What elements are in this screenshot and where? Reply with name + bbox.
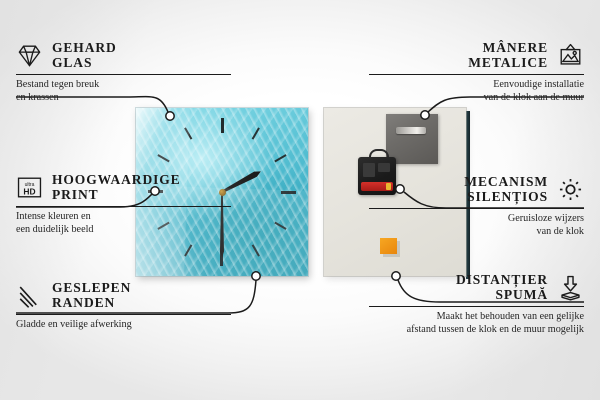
feature-callout-gehard-glas: GEHARD GLAS Bestand tegen breuk en krass…	[16, 40, 231, 104]
spacer-arrow-icon	[557, 274, 584, 301]
svg-text:HD: HD	[23, 186, 35, 196]
divider	[369, 74, 584, 75]
feature-title: DISTANȚIER SPUMĂ	[456, 272, 548, 302]
divider	[369, 306, 584, 307]
feature-callout-manere-metalice: MÂNERE METALICE Eenvoudige installatie v…	[369, 40, 584, 104]
feature-header: GEHARD GLAS	[16, 40, 231, 70]
feature-callout-hoogwaardige-print: ultra HD HOOGWAARDIGE PRINT Intense kleu…	[16, 172, 231, 236]
feature-header: MÂNERE METALICE	[369, 40, 584, 70]
feature-desc-line2: en krassen	[16, 92, 231, 104]
divider	[16, 74, 231, 75]
feature-desc-line2: afstand tussen de klok en de muur mogeli…	[369, 324, 584, 336]
feature-callout-distantier-spuma: DISTANȚIER SPUMĂ Maakt het behouden van …	[369, 272, 584, 336]
foam-spacer	[380, 238, 397, 254]
feature-callout-mecanism-silentios: MECANISM SILENȚIOS Geruisloze wijzers va…	[369, 174, 584, 238]
gear-icon	[557, 176, 584, 203]
infographic-canvas: GEHARD GLAS Bestand tegen breuk en krass…	[0, 0, 600, 400]
feature-title: MECANISM SILENȚIOS	[464, 174, 548, 204]
wall-frame-icon	[557, 42, 584, 69]
feature-desc-line1: Intense kleuren en	[16, 211, 231, 223]
feature-header: MECANISM SILENȚIOS	[369, 174, 584, 204]
diamond-icon	[16, 42, 43, 69]
feature-desc-line1: Gladde en veilige afwerking	[16, 319, 231, 331]
divider	[16, 206, 231, 207]
beveled-edges-icon	[16, 282, 43, 309]
feature-desc-line2: van de klok	[369, 226, 584, 238]
feature-header: ultra HD HOOGWAARDIGE PRINT	[16, 172, 231, 202]
feature-title: GESLEPEN RANDEN	[52, 280, 131, 310]
feature-desc-line2: van de klok aan de muur	[369, 92, 584, 104]
feature-callout-geslepen-randen: GESLEPEN RANDEN Gladde en veilige afwerk…	[16, 280, 231, 332]
feature-title: HOOGWAARDIGE PRINT	[52, 172, 181, 202]
feature-desc-line1: Bestand tegen breuk	[16, 79, 231, 91]
divider	[369, 208, 584, 209]
ultra-hd-icon: ultra HD	[16, 174, 43, 201]
feature-header: GESLEPEN RANDEN	[16, 280, 231, 310]
feature-header: DISTANȚIER SPUMĂ	[369, 272, 584, 302]
divider	[16, 314, 231, 315]
feature-desc-line2: een duidelijk beeld	[16, 224, 231, 236]
feature-title: MÂNERE METALICE	[468, 40, 548, 70]
feature-desc-line1: Geruisloze wijzers	[369, 213, 584, 225]
feature-title: GEHARD GLAS	[52, 40, 117, 70]
feature-desc-line1: Eenvoudige installatie	[369, 79, 584, 91]
feature-desc-line1: Maakt het behouden van een gelijke	[369, 311, 584, 323]
mechanism-slot-secondary	[378, 163, 390, 172]
